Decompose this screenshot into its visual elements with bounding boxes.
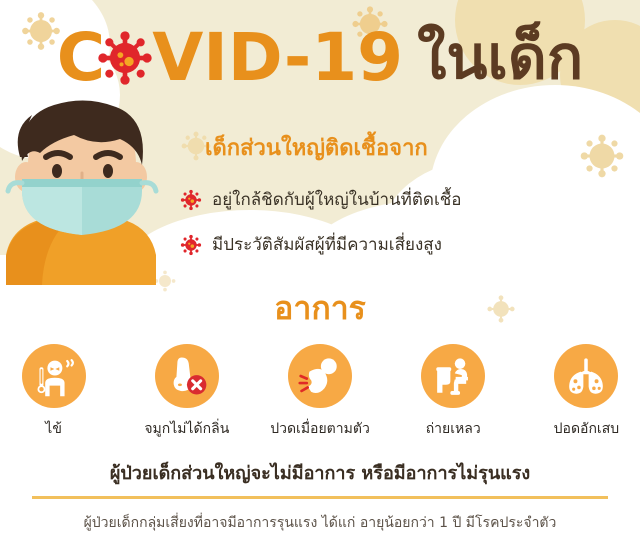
page-title: C VI [0, 18, 640, 98]
body-ache-icon [288, 344, 352, 408]
symptoms-list: ไข้ [0, 344, 640, 440]
title-thai-suffix: ในเด็ก [417, 28, 583, 88]
infected-from-heading: เด็กส่วนใหญ่ติดเชื้อจาก [205, 130, 428, 165]
symptom-item: ถ่ายเหลว [400, 344, 507, 440]
symptom-item: ปอดอักเสบ [533, 344, 640, 440]
pneumonia-icon [554, 344, 618, 408]
masked-child-illustration [0, 95, 165, 285]
symptom-item: จมูกไม่ได้กลิ่น [133, 344, 240, 440]
list-item-label: อยู่ใกล้ชิดกับผู้ใหญ่ในบ้านที่ติดเชื้อ [212, 186, 462, 213]
fever-icon [22, 344, 86, 408]
list-item-label: มีประวัติสัมผัสผู้ที่มีความเสี่ยงสูง [212, 231, 442, 258]
symptoms-heading: อาการ [0, 283, 640, 334]
infected-from-list: อยู่ใกล้ชิดกับผู้ใหญ่ในบ้านที่ติดเชื้อ [180, 186, 620, 276]
list-item: อยู่ใกล้ชิดกับผู้ใหญ่ในบ้านที่ติดเชื้อ [180, 186, 620, 213]
virus-bullet-icon [180, 189, 202, 211]
no-smell-icon [155, 344, 219, 408]
symptom-label: จมูกไม่ได้กลิ่น [144, 418, 229, 440]
footnote-text: ผู้ป่วยเด็กกลุ่มเสี่ยงที่อาจมีอาการรุนแร… [0, 512, 640, 534]
list-item: มีประวัติสัมผัสผู้ที่มีความเสี่ยงสูง [180, 231, 620, 258]
symptom-item: ไข้ [0, 344, 107, 440]
title-letters-vid: VID-19 [152, 25, 403, 91]
virus-decoration-icon [576, 130, 628, 182]
virus-bullet-icon [180, 234, 202, 256]
divider [32, 496, 608, 499]
symptom-label: ไข้ [45, 418, 62, 440]
infographic-canvas: C VI [0, 0, 640, 549]
symptom-item: ปวดเมื่อยตามตัว [266, 344, 373, 440]
diarrhea-icon [421, 344, 485, 408]
main-statement: ผู้ป่วยเด็กส่วนใหญ่จะไม่มีอาการ หรือมีอา… [0, 458, 640, 487]
symptom-label: ปอดอักเสบ [554, 418, 620, 440]
virus-icon [96, 29, 154, 87]
symptom-label: ปวดเมื่อยตามตัว [270, 418, 370, 440]
symptom-label: ถ่ายเหลว [426, 418, 481, 440]
